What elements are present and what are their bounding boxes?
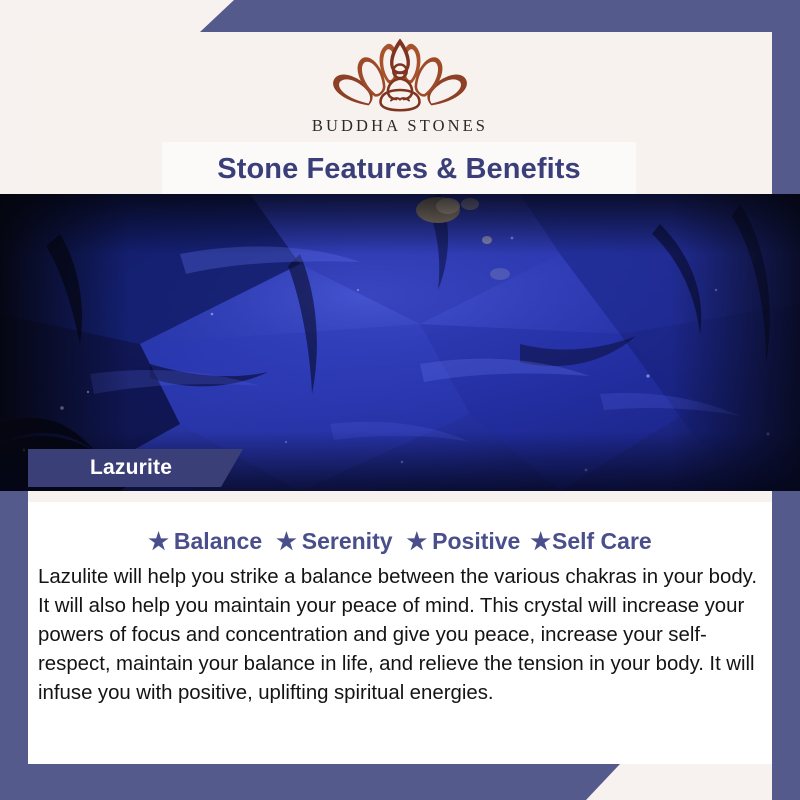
keyword-list: ★ Balance ★ Serenity ★ Positive ★ Self C…: [28, 502, 772, 557]
stone-name-banner: Lazurite: [28, 449, 243, 487]
keyword-self-care: ★ Self Care: [530, 528, 651, 555]
decorative-band-left: [0, 480, 28, 800]
star-icon: ★: [148, 530, 169, 553]
title-banner: Stone Features & Benefits: [163, 143, 635, 195]
keyword-serenity: ★ Serenity: [276, 528, 392, 555]
stone-description: Lazulite will help you strike a balance …: [38, 563, 760, 708]
keyword-label: Balance: [174, 528, 262, 555]
content-card: ★ Balance ★ Serenity ★ Positive ★ Self C…: [28, 502, 772, 764]
decorative-band-top: [200, 0, 800, 32]
keyword-positive: ★ Positive: [407, 528, 521, 555]
poster-canvas: BUDDHA STONES Stone Features & Benefits: [0, 0, 800, 800]
keyword-label: Self Care: [552, 528, 652, 555]
keyword-label: Serenity: [302, 528, 393, 555]
brand-name: BUDDHA STONES: [312, 116, 488, 136]
keyword-label: Positive: [432, 528, 520, 555]
stone-name: Lazurite: [90, 456, 172, 480]
star-icon: ★: [276, 530, 297, 553]
stone-photo: [0, 194, 800, 491]
decorative-band-bottom: [0, 764, 620, 800]
brand-header: BUDDHA STONES: [28, 32, 772, 143]
page-title: Stone Features & Benefits: [217, 153, 580, 186]
star-icon: ★: [530, 530, 551, 553]
star-icon: ★: [407, 530, 428, 553]
lotus-meditation-logo-icon: [325, 36, 475, 114]
keyword-balance: ★ Balance: [148, 528, 262, 555]
